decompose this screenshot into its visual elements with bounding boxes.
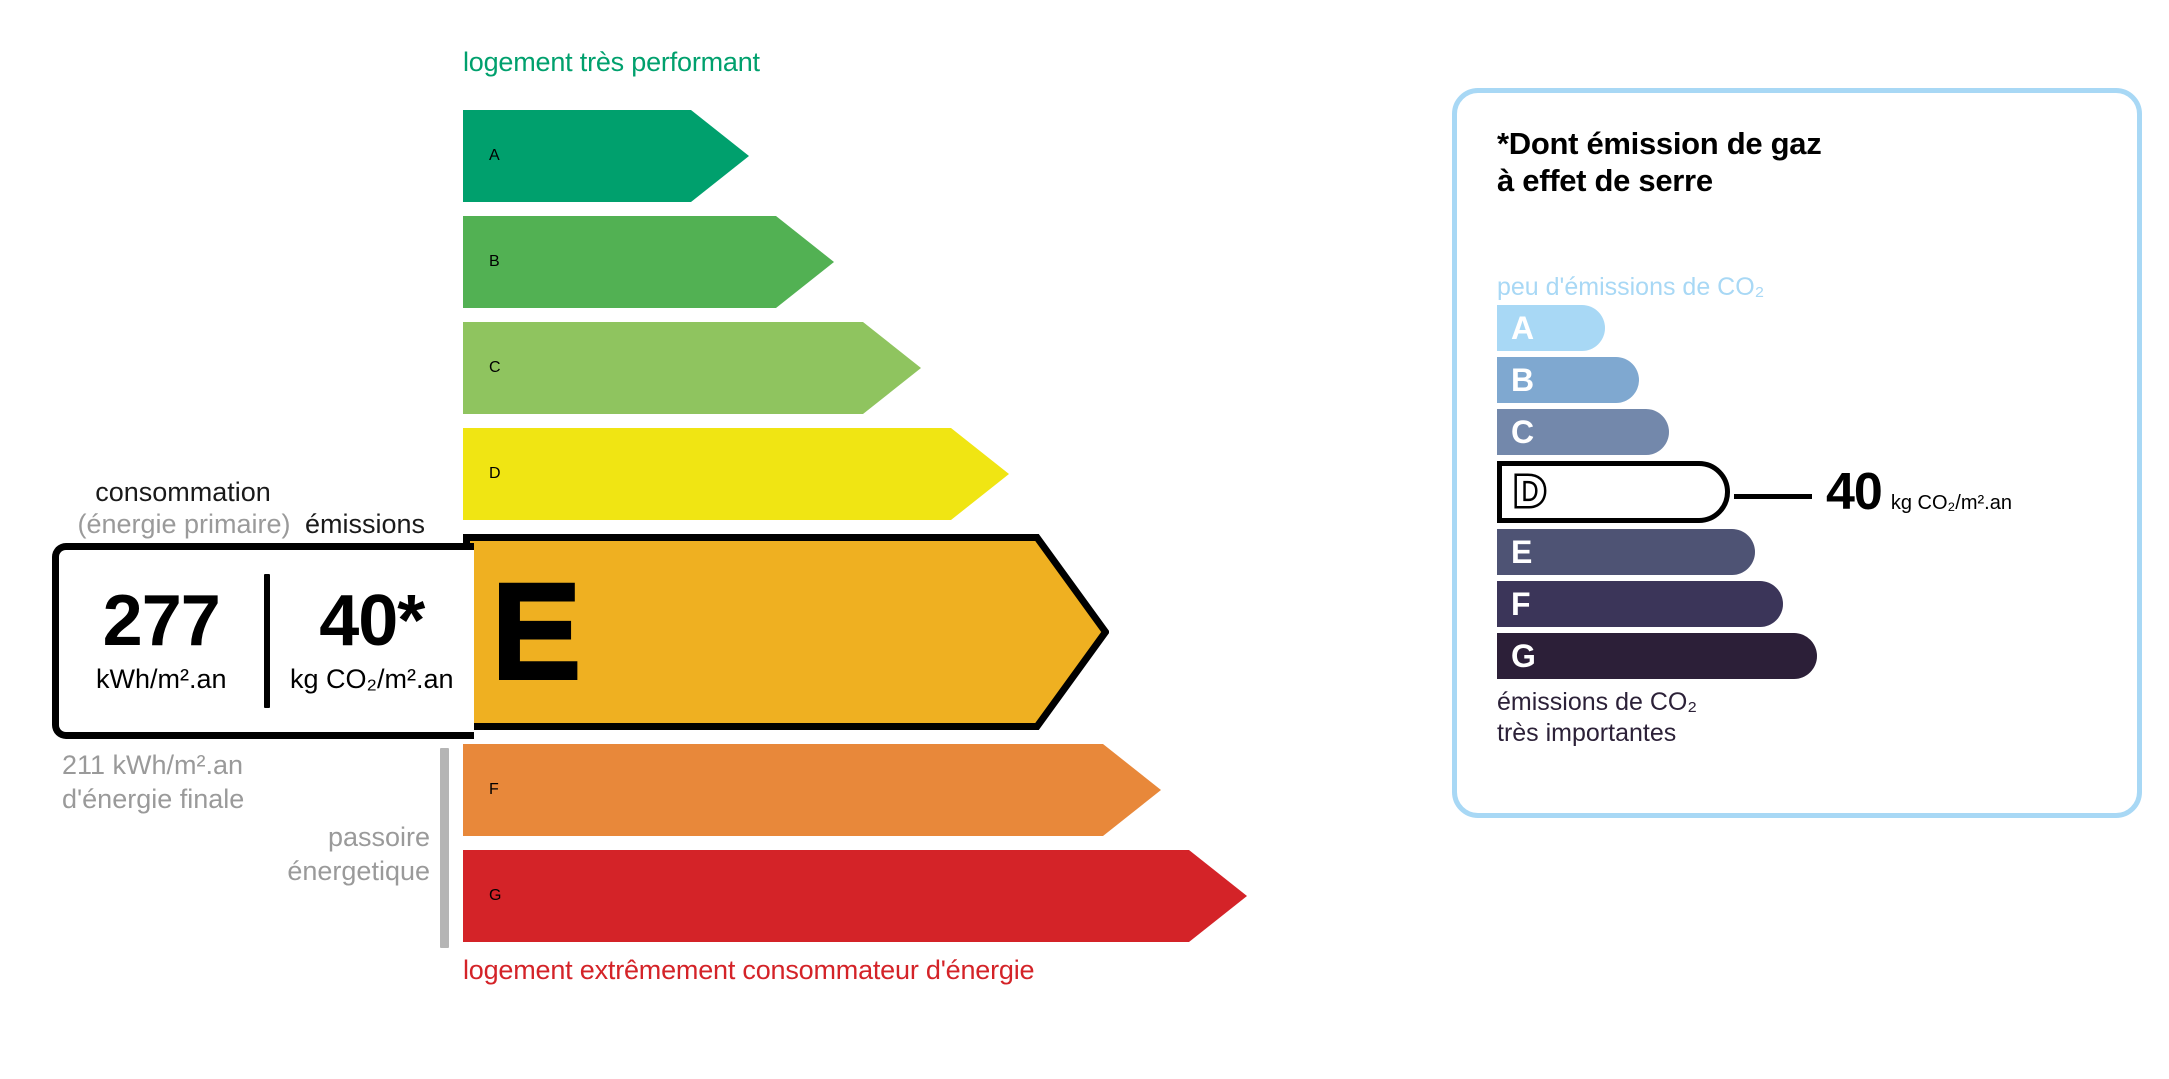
arrow-shape-a	[463, 110, 749, 202]
energy-grade-row-b: B	[463, 216, 834, 308]
energy-grade-letter-b: B	[489, 253, 500, 271]
energy-grade-letter-g: G	[489, 887, 501, 905]
co2-bar-g: G	[1497, 633, 1817, 679]
co2-leader-line	[1734, 494, 1812, 499]
co2-top-label: peu d'émissions de CO₂	[1497, 273, 1764, 302]
arrow-shape-g	[463, 850, 1247, 942]
co2-grade-row-e: E	[1497, 529, 2117, 575]
energy-grade-row-a: A	[463, 110, 749, 202]
scale-bottom-label: logement extrêmement consommateur d'éner…	[463, 955, 1034, 986]
co2-value-callout: 40kg CO₂/m².an	[1734, 466, 2012, 518]
arrow-shape-f	[463, 744, 1161, 836]
energy-grade-row-g: G	[463, 850, 1247, 942]
consumption-subheader: (énergie primaire)	[44, 509, 324, 540]
co2-bottom-label: émissions de CO₂très importantes	[1497, 687, 1697, 750]
co2-grade-letter-a: A	[1511, 312, 1534, 344]
final-energy-note: 211 kWh/m².and'énergie finale	[62, 748, 244, 816]
energy-grade-row-c: C	[463, 322, 921, 414]
energy-grade-row-d: D	[463, 428, 1009, 520]
energy-grade-letter-c: C	[489, 359, 501, 377]
emission-unit: kg CO₂/m².an	[290, 664, 454, 695]
energy-grade-letter-f: F	[489, 781, 499, 799]
energy-grade-letter-a: A	[489, 147, 500, 165]
co2-panel-title: *Dont émission de gazà effet de serre	[1497, 125, 1821, 199]
co2-callout-unit: kg CO₂/m².an	[1891, 492, 2012, 515]
co2-grade-row-d: D40kg CO₂/m².an	[1497, 461, 2117, 523]
energy-arrow-stack: ABCDEFG	[463, 110, 1343, 940]
value-box: 277 kWh/m².an 40* kg CO₂/m².an	[52, 543, 474, 739]
co2-bar-b: B	[1497, 357, 1639, 403]
co2-bar-f: F	[1497, 581, 1783, 627]
co2-grade-letter-e: E	[1511, 536, 1532, 568]
consumption-header: consommation	[68, 477, 298, 508]
co2-grade-letter-g: G	[1511, 640, 1536, 672]
co2-bar-c: C	[1497, 409, 1669, 455]
emissions-header: émissions	[305, 509, 425, 540]
passoire-bracket	[440, 748, 449, 948]
co2-bar-d: D	[1497, 461, 1730, 523]
co2-bar-stack: ABCD40kg CO₂/m².anEFG	[1497, 305, 2117, 685]
arrow-shape-c	[463, 322, 921, 414]
scale-top-label: logement très performant	[463, 47, 760, 78]
co2-grade-letter-c: C	[1511, 416, 1534, 448]
energy-grade-row-f: F	[463, 744, 1161, 836]
co2-grade-row-f: F	[1497, 581, 2117, 627]
co2-grade-letter-d: D	[1514, 470, 1546, 514]
consumption-unit: kWh/m².an	[96, 664, 227, 695]
emission-cell: 40* kg CO₂/m².an	[270, 550, 475, 732]
co2-grade-letter-b: B	[1511, 364, 1534, 396]
consumption-value: 277	[103, 587, 220, 655]
co2-grade-row-c: C	[1497, 409, 2117, 455]
emission-value: 40*	[319, 587, 424, 655]
co2-emission-panel: *Dont émission de gazà effet de serre pe…	[1452, 88, 2142, 818]
energy-performance-panel: logement très performant ABCDEFG consomm…	[0, 0, 1380, 1079]
co2-grade-letter-f: F	[1511, 588, 1531, 620]
selected-grade-block: 277 kWh/m².an 40* kg CO₂/m².an	[52, 543, 1088, 739]
co2-grade-row-b: B	[1497, 357, 2117, 403]
co2-callout-value: 40	[1826, 466, 1882, 518]
co2-bar-e: E	[1497, 529, 1755, 575]
co2-grade-row-g: G	[1497, 633, 2117, 679]
energy-grade-letter-d: D	[489, 465, 501, 483]
arrow-shape-b	[463, 216, 834, 308]
co2-grade-row-a: A	[1497, 305, 2117, 351]
co2-bar-a: A	[1497, 305, 1605, 351]
arrow-shape-d	[463, 428, 1009, 520]
consumption-cell: 277 kWh/m².an	[59, 550, 264, 732]
passoire-energetique-note: passoireénergetique	[180, 820, 430, 888]
